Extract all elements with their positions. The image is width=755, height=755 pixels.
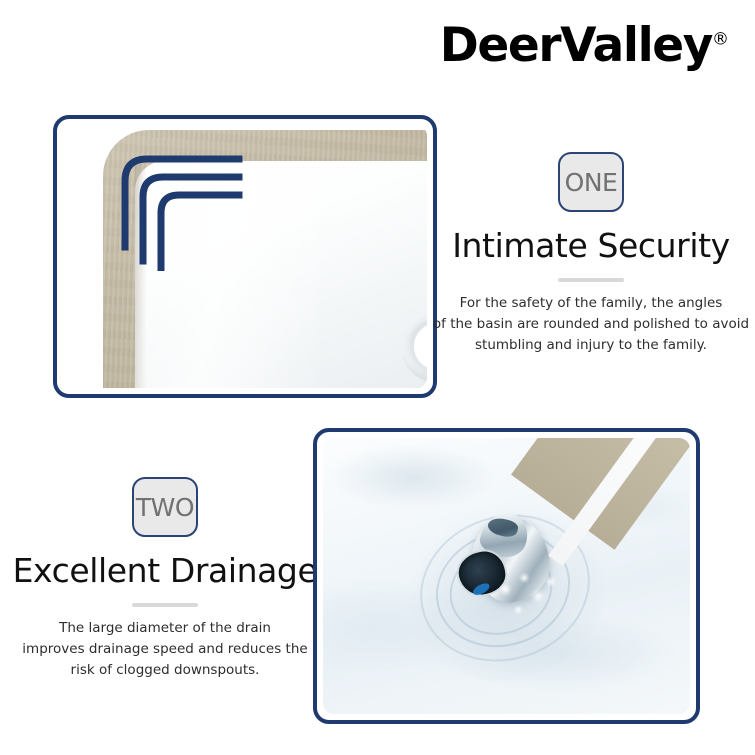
feature-one-description: For the safety of the family, the angles… [432,293,750,356]
brand-logo: DeerValley® [440,22,729,69]
drain-scene [323,438,690,714]
basin-corner-photo-frame [53,115,437,398]
feature-one-divider [558,278,624,282]
step-badge-two-label: TWO [136,495,194,520]
feature-two-description: The large diameter of the drain improves… [6,618,324,681]
step-badge-two: TWO [132,477,198,537]
chrome-drain-fitting [438,504,564,620]
feature-two-divider [132,603,198,607]
basin-corner-photo [63,125,427,388]
step-badge-one-label: ONE [565,170,618,195]
feature-block-one: ONE Intimate Security For the safety of … [432,152,750,356]
infographic-page: DeerValley® [0,0,755,755]
brand-name: DeerValley [440,18,712,73]
feature-two-title: Excellent Drainage [6,553,324,589]
drain-photo [323,438,690,714]
feature-one-title: Intimate Security [432,228,750,264]
feature-block-two: TWO Excellent Drainage The large diamete… [6,477,324,681]
registered-trademark-icon: ® [712,29,729,49]
drain-photo-frame [313,428,700,724]
basin-scene [63,125,427,388]
step-badge-one: ONE [558,152,624,212]
rounded-corner-highlight-icon [121,151,281,271]
